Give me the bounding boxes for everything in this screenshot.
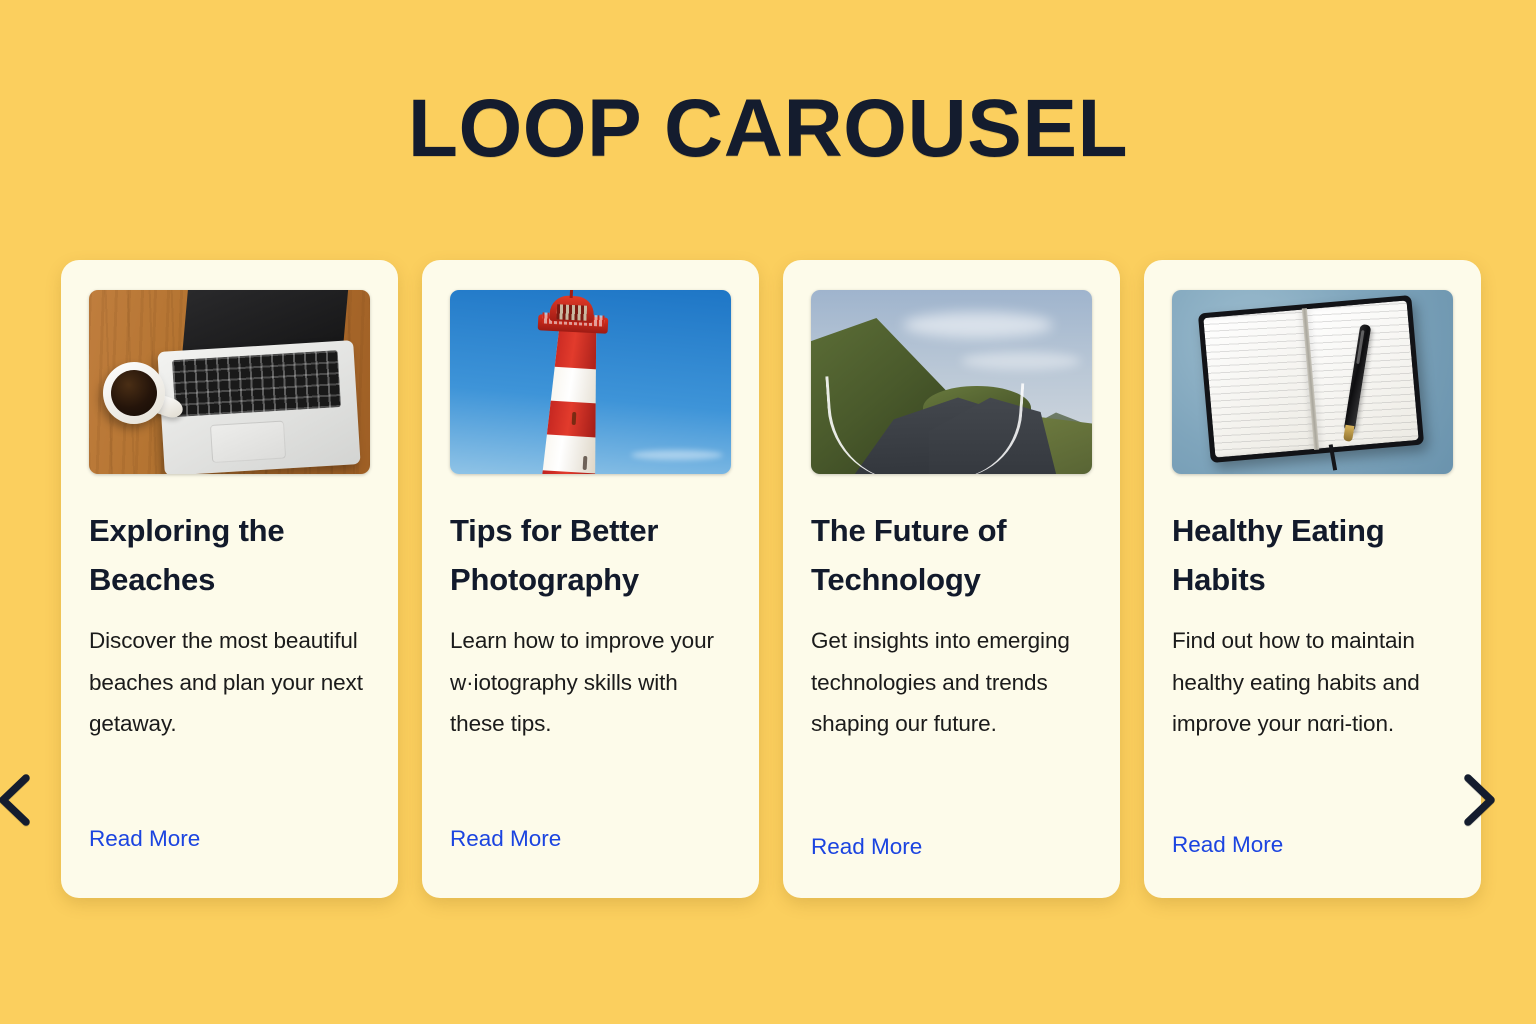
page-title: LOOP CAROUSEL (0, 88, 1536, 170)
card-description: Get insights into emerging technologies … (811, 620, 1092, 745)
carousel-card[interactable]: Healthy Eating Habits Find out how to ma… (1144, 260, 1481, 898)
carousel-track[interactable]: Exploring the Beaches Discover the most … (61, 260, 1481, 898)
carousel: Exploring the Beaches Discover the most … (0, 260, 1536, 900)
read-more-link[interactable]: Read More (1172, 830, 1283, 860)
carousel-card[interactable]: Tips for Better Photography Learn how to… (422, 260, 759, 898)
card-description: Learn how to improve your w·iotography s… (450, 620, 731, 745)
carousel-card[interactable]: The Future of Technology Get insights in… (783, 260, 1120, 898)
chevron-left-icon (0, 772, 39, 828)
card-image (1172, 290, 1453, 474)
card-image (450, 290, 731, 474)
carousel-page: LOOP CAROUSEL (0, 0, 1536, 1024)
card-title: The Future of Technology (811, 506, 1092, 604)
card-title: Healthy Eating Habits (1172, 506, 1453, 604)
card-description: Discover the most beautiful beaches and … (89, 620, 370, 745)
card-title: Exploring the Beaches (89, 506, 370, 604)
read-more-link[interactable]: Read More (450, 824, 561, 854)
read-more-link[interactable]: Read More (811, 832, 922, 862)
carousel-next-button[interactable] (1446, 768, 1510, 832)
card-description: Find out how to maintain healthy eating … (1172, 620, 1453, 745)
carousel-card[interactable]: Exploring the Beaches Discover the most … (61, 260, 398, 898)
chevron-right-icon (1455, 772, 1501, 828)
read-more-link[interactable]: Read More (89, 824, 200, 854)
card-image (811, 290, 1092, 474)
carousel-prev-button[interactable] (0, 768, 48, 832)
card-image (89, 290, 370, 474)
card-title: Tips for Better Photography (450, 506, 731, 604)
